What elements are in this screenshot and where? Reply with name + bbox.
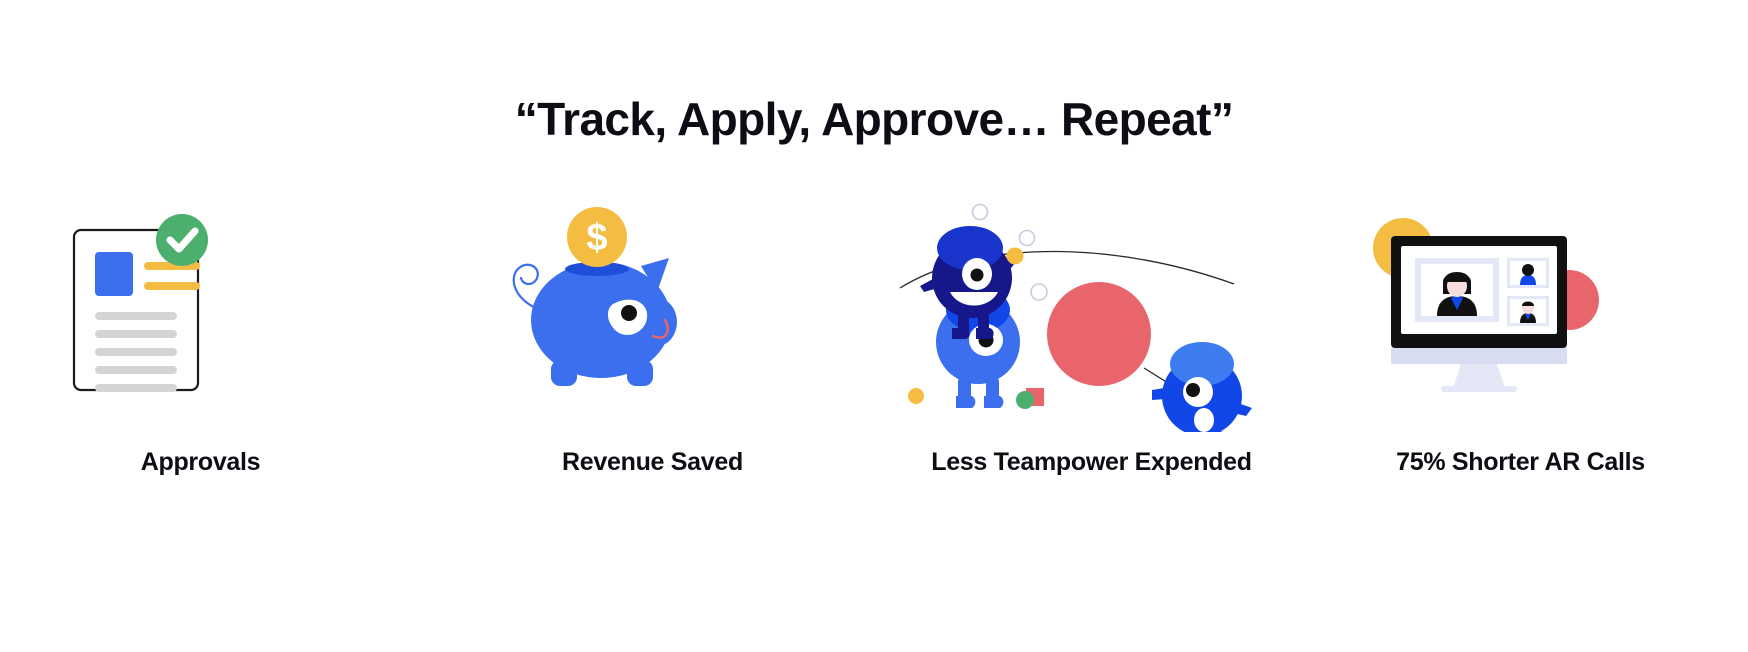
monitor-stand-foot — [1441, 386, 1517, 392]
page-title: “Track, Apply, Approve… Repeat” — [0, 92, 1748, 146]
document-approved-icon — [0, 200, 437, 432]
gray-text-line — [95, 348, 177, 356]
navy-monster-foot — [976, 328, 994, 339]
piggy-leg — [551, 360, 577, 386]
right-monster-mouth — [1194, 408, 1214, 432]
outline-bubble — [1020, 231, 1035, 246]
yellow-text-line — [144, 282, 200, 290]
piggy-leg — [627, 360, 653, 386]
yellow-ball — [1007, 248, 1024, 265]
blue-monster-foot — [984, 396, 1003, 408]
navy-monster-pupil — [971, 269, 984, 282]
monitor-stand — [1453, 364, 1505, 388]
stat-label-revenue-saved: Revenue Saved — [434, 448, 871, 477]
stat-label-ar-calls: 75% Shorter AR Calls — [1302, 448, 1739, 477]
gray-text-line — [95, 366, 177, 374]
stats-columns: Approvals — [0, 200, 1748, 540]
monitor-base — [1391, 346, 1567, 364]
gray-text-line — [95, 384, 177, 392]
outline-bubble — [1031, 284, 1047, 300]
piggy-eye — [621, 305, 637, 321]
monsters-balloon-icon — [874, 200, 1311, 432]
right-monster-pupil — [1186, 383, 1200, 397]
stat-column-ar-calls: 75% Shorter AR Calls — [1311, 200, 1748, 540]
yellow-dot — [908, 388, 924, 404]
dollar-sign: $ — [586, 217, 607, 259]
stat-label-teampower: Less Teampower Expended — [873, 448, 1310, 477]
avatar-head — [1522, 264, 1534, 276]
navy-monster-foot — [952, 328, 970, 339]
blue-monster-foot — [956, 396, 975, 408]
gray-text-line — [95, 312, 177, 320]
outline-bubble — [973, 205, 988, 220]
gray-text-line — [95, 330, 177, 338]
video-call-monitor-icon — [1311, 200, 1748, 432]
stat-column-revenue-saved: $ Revenue Saved — [437, 200, 874, 540]
green-dot — [1016, 391, 1034, 409]
red-balloon — [1047, 282, 1151, 386]
stat-column-approvals: Approvals — [0, 200, 437, 540]
piggy-bank-icon: $ — [437, 200, 874, 432]
stat-label-approvals: Approvals — [0, 448, 419, 477]
infographic-page: “Track, Apply, Approve… Repeat” — [0, 0, 1748, 652]
green-check-badge — [156, 214, 208, 266]
blue-thumbnail-square — [95, 252, 133, 296]
stat-column-teampower: Less Teampower Expended — [874, 200, 1311, 540]
